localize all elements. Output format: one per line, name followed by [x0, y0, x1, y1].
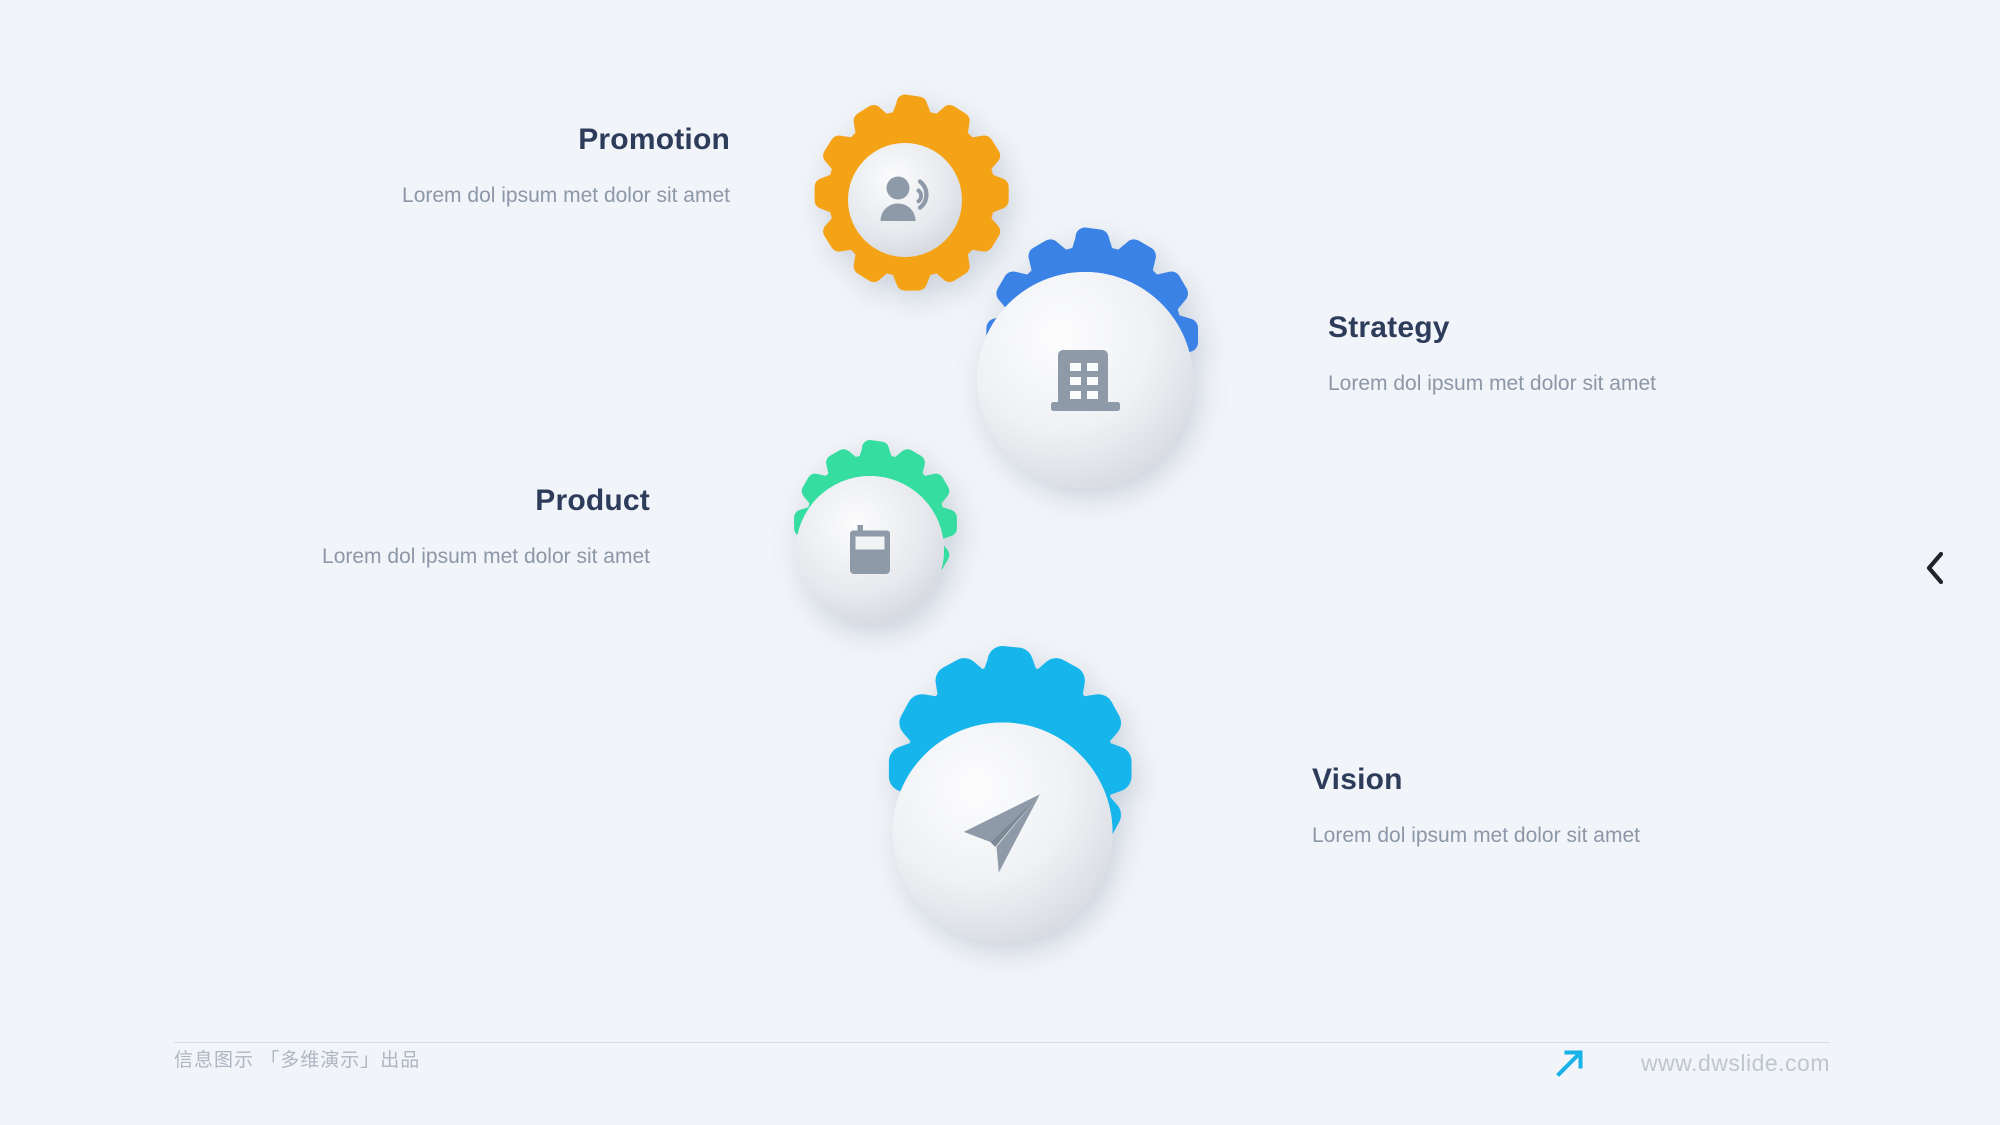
item-vision-title: Vision: [1312, 762, 1682, 798]
item-product-title: Product: [170, 483, 650, 519]
arrow-up-right-icon: [1553, 1046, 1587, 1080]
item-strategy-title: Strategy: [1328, 310, 1728, 346]
item-product-body: Lorem dol ipsum met dolor sit amet: [170, 539, 650, 575]
footer-brand: www.dwslide.com: [1553, 1046, 1830, 1080]
chevron-left-icon: [1924, 551, 1946, 585]
item-promotion-text: Promotion Lorem dol ipsum met dolor sit …: [230, 122, 730, 214]
item-promotion-title: Promotion: [230, 122, 730, 158]
item-promotion-body: Lorem dol ipsum met dolor sit amet: [230, 178, 730, 214]
gear-product[interactable]: [750, 430, 990, 670]
slide-canvas: Promotion Lorem dol ipsum met dolor sit …: [0, 0, 2000, 1125]
prev-slide-button[interactable]: [1918, 546, 1952, 590]
gear-vision[interactable]: [805, 635, 1200, 1030]
item-strategy-body: Lorem dol ipsum met dolor sit amet: [1328, 366, 1728, 402]
item-vision-text: Vision Lorem dol ipsum met dolor sit ame…: [1312, 762, 1682, 854]
mobile-phone-icon: [850, 525, 890, 574]
footer-divider: [174, 1042, 1830, 1043]
footer-url: www.dwslide.com: [1641, 1050, 1830, 1077]
item-vision-body: Lorem dol ipsum met dolor sit amet: [1312, 818, 1682, 854]
item-product-text: Product Lorem dol ipsum met dolor sit am…: [170, 483, 650, 575]
item-strategy-text: Strategy Lorem dol ipsum met dolor sit a…: [1328, 310, 1728, 402]
footer-credit: 信息图示 「多维演示」出品: [174, 1046, 420, 1076]
